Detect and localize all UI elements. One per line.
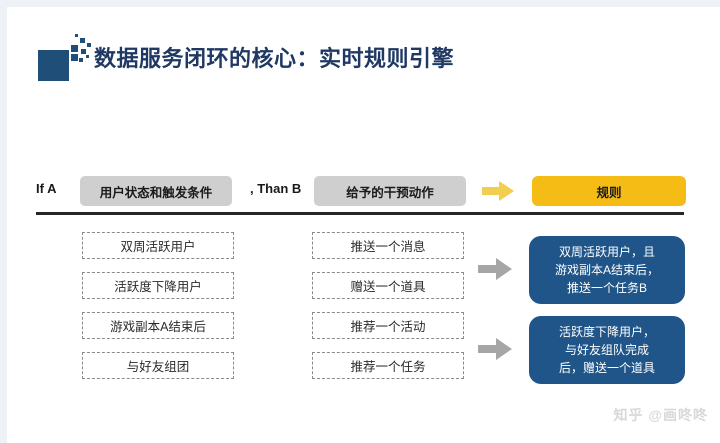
watermark-text: 知乎 @画咚咚 (613, 405, 708, 425)
rule-result-card[interactable]: 双周活跃用户，且 游戏副本A结束后， 推送一个任务B (529, 236, 685, 304)
rule-result-pill[interactable]: 规则 (532, 176, 686, 206)
page-title: 数据服务闭环的核心：实时规则引擎 (94, 41, 454, 73)
slide-canvas: 数据服务闭环的核心：实时规则引擎 If A 用户状态和触发条件 , Than B… (0, 0, 720, 443)
if-a-label: If A (36, 181, 56, 196)
slide-title-row: 数据服务闭环的核心：实时规则引擎 (38, 33, 454, 81)
action-item[interactable]: 推荐一个任务 (312, 352, 464, 379)
top-edge-band (0, 0, 720, 7)
rule-result-line: 后，赠送一个道具 (535, 359, 679, 377)
action-item[interactable]: 推送一个消息 (312, 232, 464, 259)
conditions-column: 双周活跃用户 活跃度下降用户 游戏副本A结束后 与好友组团 (82, 232, 234, 392)
rule-result-line: 与好友组队完成 (535, 341, 679, 359)
header-divider (36, 212, 684, 215)
arrow-right-icon (482, 181, 514, 201)
rule-result-line: 活跃度下降用户， (535, 323, 679, 341)
than-b-label: , Than B (250, 181, 301, 196)
watermark: 知乎 @画咚咚 (613, 405, 708, 425)
condition-item[interactable]: 与好友组团 (82, 352, 234, 379)
actions-column: 推送一个消息 赠送一个道具 推荐一个活动 推荐一个任务 (312, 232, 464, 392)
condition-item[interactable]: 游戏副本A结束后 (82, 312, 234, 339)
rule-result-line: 游戏副本A结束后， (535, 261, 679, 279)
rule-result-card[interactable]: 活跃度下降用户， 与好友组队完成 后，赠送一个道具 (529, 316, 685, 384)
action-item[interactable]: 推荐一个活动 (312, 312, 464, 339)
action-item[interactable]: 赠送一个道具 (312, 272, 464, 299)
rule-header-row: If A 用户状态和触发条件 , Than B 给予的干预动作 规则 (36, 176, 686, 206)
action-pill[interactable]: 给予的干预动作 (314, 176, 466, 206)
pixel-square-icon (38, 33, 90, 81)
rule-result-line: 双周活跃用户，且 (535, 243, 679, 261)
rule-result-line: 推送一个任务B (535, 279, 679, 297)
condition-item[interactable]: 活跃度下降用户 (82, 272, 234, 299)
arrow-right-icon (478, 258, 512, 280)
condition-item[interactable]: 双周活跃用户 (82, 232, 234, 259)
left-edge-band (0, 0, 7, 443)
condition-pill[interactable]: 用户状态和触发条件 (80, 176, 232, 206)
arrow-right-icon (478, 338, 512, 360)
